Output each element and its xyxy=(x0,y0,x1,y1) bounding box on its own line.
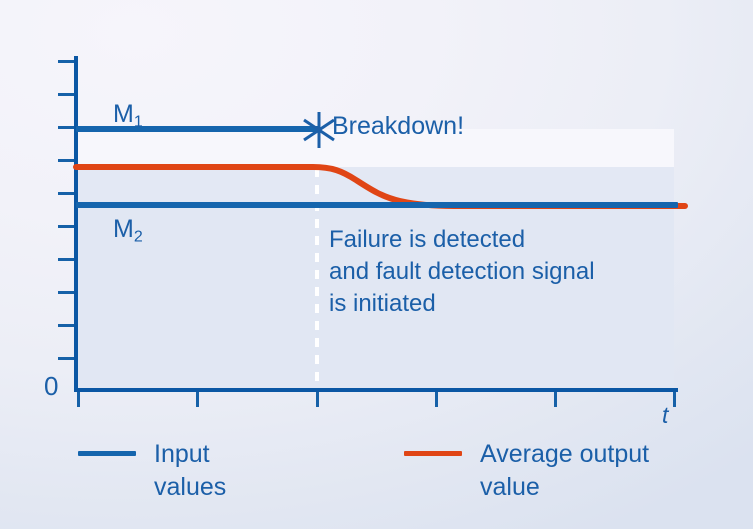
series-line-input-m2 xyxy=(76,202,678,208)
breakdown-asterisk-icon xyxy=(302,111,336,149)
x-axis-tick xyxy=(77,392,80,407)
legend-item-input-values: Input values xyxy=(78,438,226,504)
chart-legend: Input values Average output value xyxy=(78,438,718,520)
label-m1-subscript: 1 xyxy=(134,113,143,130)
y-axis-tick xyxy=(58,324,74,327)
y-axis-tick xyxy=(58,357,74,360)
label-m2: M2 xyxy=(113,215,143,246)
x-axis-label: t xyxy=(662,402,668,429)
y-axis-tick xyxy=(58,291,74,294)
chart-figure: M1 M2 Breakdown! Failure is detected and… xyxy=(0,0,753,529)
y-axis-tick xyxy=(58,93,74,96)
legend-label-average-output: Average output value xyxy=(480,438,649,504)
series-line-average-output xyxy=(70,140,685,220)
plot-area xyxy=(78,56,674,390)
y-axis-tick xyxy=(58,258,74,261)
breakdown-label: Breakdown! xyxy=(332,112,464,141)
legend-item-average-output: Average output value xyxy=(404,438,649,504)
x-axis-tick xyxy=(196,392,199,407)
x-axis-tick xyxy=(554,392,557,407)
y-axis-tick xyxy=(58,126,74,129)
fault-detection-annotation: Failure is detected and fault detection … xyxy=(329,224,595,320)
y-axis xyxy=(74,56,78,391)
y-axis-tick xyxy=(58,225,74,228)
x-axis-tick xyxy=(435,392,438,407)
x-axis-tick xyxy=(673,392,676,407)
x-axis-tick xyxy=(316,392,319,407)
legend-swatch-input-values xyxy=(78,451,136,456)
label-m2-subscript: 2 xyxy=(134,228,143,245)
origin-label: 0 xyxy=(44,371,58,402)
x-axis xyxy=(74,388,678,392)
y-axis-tick xyxy=(58,60,74,63)
label-m2-base: M xyxy=(113,215,134,243)
legend-swatch-average-output xyxy=(404,451,462,456)
legend-label-input-values: Input values xyxy=(154,438,226,504)
label-m1-base: M xyxy=(113,100,134,128)
label-m1: M1 xyxy=(113,100,143,131)
